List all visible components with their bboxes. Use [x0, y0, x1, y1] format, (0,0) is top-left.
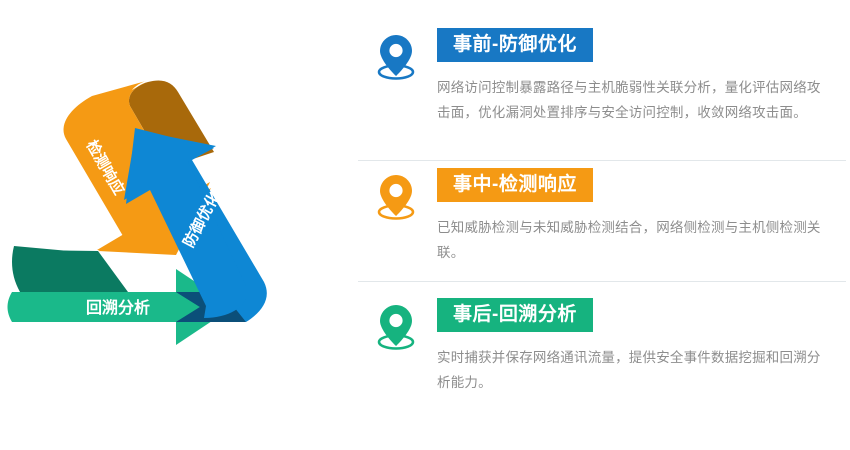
stage-after: 事后-回溯分析 实时捕获并保存网络通讯流量，提供安全事件数据挖掘和回溯分析能力。 — [355, 298, 850, 396]
infographic-root: 检测响应 回溯分析 防御优化 — [0, 0, 850, 450]
stage-before-title: 事前-防御优化 — [437, 28, 593, 62]
stage-during-body: 事中-检测响应 已知威胁检测与未知威胁检测结合，网络侧检测与主机侧检测关联。 — [437, 168, 850, 266]
stage-before-icon-wrap — [355, 28, 437, 82]
location-pin-icon — [374, 172, 418, 222]
location-pin-icon — [374, 302, 418, 352]
stage-after-description: 实时捕获并保存网络通讯流量，提供安全事件数据挖掘和回溯分析能力。 — [437, 346, 829, 396]
stage-during: 事中-检测响应 已知威胁检测与未知威胁检测结合，网络侧检测与主机侧检测关联。 — [355, 168, 850, 266]
stage-during-title: 事中-检测响应 — [437, 168, 593, 202]
cycle-diagram: 检测响应 回溯分析 防御优化 — [0, 0, 340, 450]
stage-divider-2 — [358, 281, 846, 282]
stage-after-icon-wrap — [355, 298, 437, 352]
stage-before-body: 事前-防御优化 网络访问控制暴露路径与主机脆弱性关联分析，量化评估网络攻击面，优… — [437, 28, 850, 126]
stage-before-description: 网络访问控制暴露路径与主机脆弱性关联分析，量化评估网络攻击面，优化漏洞处置排序与… — [437, 76, 829, 126]
stage-during-icon-wrap — [355, 168, 437, 222]
stage-after-title: 事后-回溯分析 — [437, 298, 593, 332]
green-arrow-label: 回溯分析 — [86, 298, 150, 317]
stage-after-body: 事后-回溯分析 实时捕获并保存网络通讯流量，提供安全事件数据挖掘和回溯分析能力。 — [437, 298, 850, 396]
location-pin-icon — [374, 32, 418, 82]
stage-during-description: 已知威胁检测与未知威胁检测结合，网络侧检测与主机侧检测关联。 — [437, 216, 829, 266]
stage-before: 事前-防御优化 网络访问控制暴露路径与主机脆弱性关联分析，量化评估网络攻击面，优… — [355, 28, 850, 126]
stages-panel: 事前-防御优化 网络访问控制暴露路径与主机脆弱性关联分析，量化评估网络攻击面，优… — [355, 0, 850, 450]
stage-divider-1 — [358, 160, 846, 161]
